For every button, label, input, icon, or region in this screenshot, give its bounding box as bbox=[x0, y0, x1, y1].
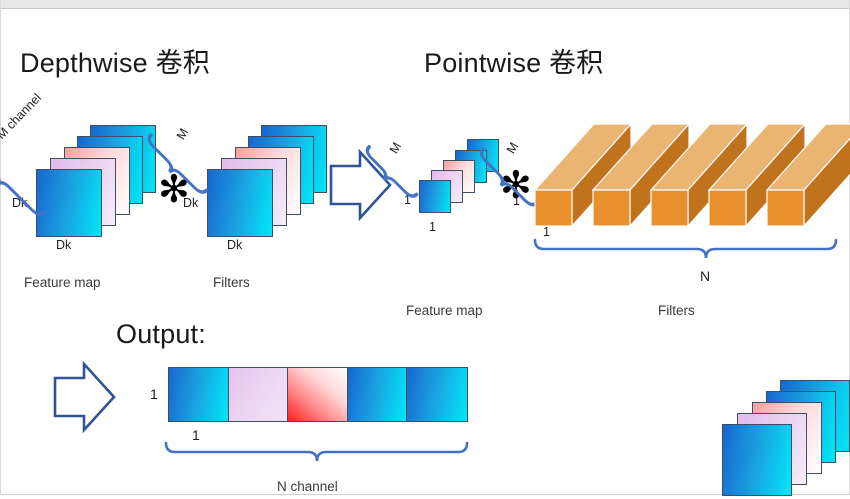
depthwise-feature-height-label: Dk bbox=[12, 196, 27, 210]
output-segment-3 bbox=[288, 368, 348, 421]
output-segment-2 bbox=[229, 368, 289, 421]
filter-bar bbox=[593, 124, 689, 226]
pointwise-feature-width-label: 1 bbox=[429, 220, 436, 234]
window-titlebar bbox=[0, 0, 850, 9]
depthwise-title: Depthwise 卷积 bbox=[20, 41, 210, 80]
brace-n-filters bbox=[535, 240, 836, 258]
output-brace-label: N channel bbox=[277, 479, 338, 494]
filter-bar bbox=[535, 124, 631, 226]
plane-layer-1 bbox=[207, 169, 273, 237]
output-segment-1 bbox=[169, 368, 229, 421]
pointwise-filters-brace-label: M bbox=[504, 140, 521, 156]
brace-n-channel bbox=[166, 443, 467, 461]
depthwise-filters-width-label: Dk bbox=[227, 238, 242, 252]
depthwise-filters-stack bbox=[207, 125, 327, 240]
output-segment-5 bbox=[407, 368, 467, 421]
bottom-right-feature-stack bbox=[722, 380, 850, 499]
pointwise-filters-count-label: N bbox=[700, 268, 710, 284]
output-width-label: 1 bbox=[192, 427, 200, 443]
depthwise-feature-map-caption: Feature map bbox=[24, 275, 101, 290]
filter-bar bbox=[651, 124, 747, 226]
output-height-label: 1 bbox=[150, 386, 158, 402]
output-feature-bar bbox=[168, 367, 468, 422]
pointwise-filter-bars bbox=[535, 124, 850, 226]
pointwise-feature-height-label: 1 bbox=[404, 193, 411, 207]
slide-canvas: Depthwise 卷积 Pointwise 卷积 Output: M chan… bbox=[0, 0, 850, 499]
pointwise-title: Pointwise 卷积 bbox=[424, 41, 603, 80]
plane-layer-1 bbox=[419, 180, 451, 213]
depthwise-feature-map-stack bbox=[36, 125, 156, 240]
output-segment-4 bbox=[348, 368, 408, 421]
plane-layer-1 bbox=[36, 169, 102, 237]
pointwise-filters-height-label: 1 bbox=[513, 194, 520, 208]
window-edge-left bbox=[0, 0, 1, 499]
depthwise-filters-height-label: Dk bbox=[183, 196, 198, 210]
right-arrow-icon-middle bbox=[331, 152, 390, 218]
depthwise-feature-width-label: Dk bbox=[56, 238, 71, 252]
pointwise-filters-caption: Filters bbox=[658, 303, 695, 318]
depthwise-filters-brace-label: M bbox=[174, 126, 191, 142]
filter-bar bbox=[709, 124, 805, 226]
pointwise-feature-brace-label: M bbox=[387, 140, 404, 156]
depthwise-filters-caption: Filters bbox=[213, 275, 250, 290]
pointwise-filters-depth-label: 1 bbox=[543, 225, 550, 239]
plane-layer-1 bbox=[722, 424, 792, 496]
pointwise-feature-map-stack bbox=[419, 139, 499, 214]
pointwise-feature-map-caption: Feature map bbox=[406, 303, 483, 318]
output-title: Output: bbox=[116, 319, 206, 350]
right-arrow-icon-output bbox=[55, 364, 114, 430]
filter-bar bbox=[767, 124, 850, 226]
